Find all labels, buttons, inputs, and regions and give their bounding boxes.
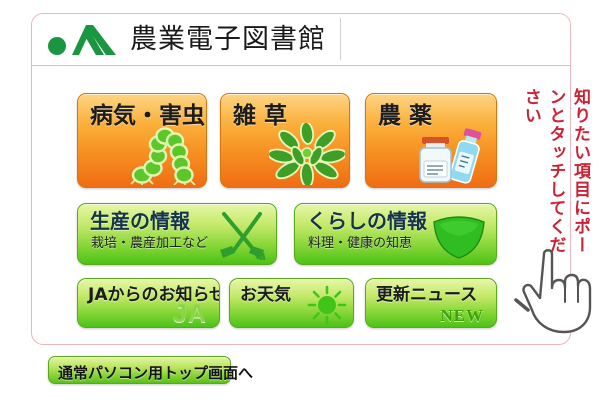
category-button-weed[interactable]: 雑 草 [220, 93, 350, 188]
category-label-weather: お天気 [240, 287, 291, 305]
page-title: 農業電子図書館 [130, 26, 326, 53]
category-button-production-info[interactable]: 生産の情報 栽培・農産加工など [77, 203, 277, 265]
site-branding: 農業電子図書館 [46, 18, 341, 60]
pointing-hand-icon [514, 244, 598, 336]
header-bar: 農業電子図書館 [32, 14, 570, 66]
category-button-pesticide[interactable]: 農 薬 [365, 93, 497, 188]
go-to-pc-top-screen-button[interactable]: 通常パソコン用トップ画面へ [48, 356, 231, 384]
category-button-weather[interactable]: お天気 [229, 278, 354, 328]
category-label-update-news: 更新ニュース [376, 287, 477, 305]
green-bowl-icon [428, 210, 490, 260]
ja-logo [46, 21, 120, 57]
go-to-pc-top-screen-label: 通常パソコン用トップ画面へ [58, 362, 253, 383]
content-area: 病気・害虫 雑 草 [32, 66, 570, 345]
category-button-ja-notices[interactable]: JAからのお知らせ JA [77, 278, 220, 328]
new-badge: NEW [440, 306, 484, 326]
farm-tools-icon [214, 210, 270, 260]
touch-instruction-text: 知りたい項目にポーンとタッチしてください [516, 88, 592, 256]
category-title-living-info: くらしの情報 [307, 211, 427, 232]
category-button-update-news[interactable]: 更新ニュース NEW [365, 278, 497, 328]
ja-text-mark: JA [173, 300, 207, 328]
weed-plant-icon [269, 123, 345, 185]
app-frame: 農業電子図書館 病気・害虫 [31, 13, 571, 345]
category-button-disease-pest[interactable]: 病気・害虫 [77, 93, 207, 188]
category-title-production-info: 生産の情報 [90, 211, 190, 232]
pesticide-bottles-icon [406, 123, 492, 185]
category-subtitle-living-info: 料理・健康の知恵 [308, 237, 412, 251]
category-subtitle-production-info: 栽培・農産加工など [91, 237, 208, 251]
category-button-living-info[interactable]: くらしの情報 料理・健康の知恵 [294, 203, 497, 265]
caterpillar-icon [128, 125, 202, 185]
sun-icon [307, 285, 347, 325]
